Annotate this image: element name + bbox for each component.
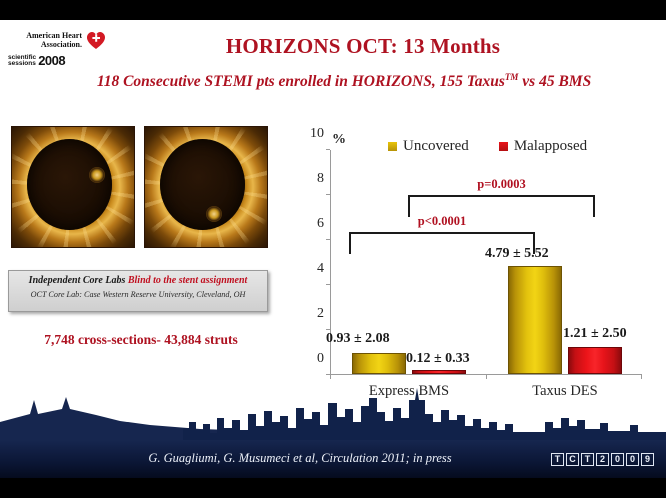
- tct-logo-char-2: T: [581, 453, 594, 466]
- slide-canvas: American Heart Association. scientific s…: [0, 20, 666, 478]
- tct-2009-logo: T C T 2 0 0 9: [551, 453, 654, 466]
- core-lab-black-text: Independent Core Labs: [29, 275, 128, 286]
- subtitle-post: vs 45 BMS: [518, 73, 591, 90]
- bar-express-bms-malapposed: [412, 370, 466, 374]
- p-value-malapposed: p=0.0003: [477, 177, 525, 192]
- y-tick-label-6: 6: [317, 216, 324, 232]
- y-axis-label: %: [332, 132, 346, 148]
- vessel-lumen: [27, 139, 112, 230]
- subtitle-pre: 118 Consecutive STEMI pts enrolled in HO…: [97, 73, 505, 90]
- tct-logo-char-6: 9: [641, 453, 654, 466]
- trademark-symbol: TM: [505, 72, 519, 82]
- value-label-express-bms-malapposed: 0.12 ± 0.33: [406, 351, 470, 367]
- y-tick-label-8: 8: [317, 171, 324, 187]
- y-tick-2: [326, 329, 330, 330]
- page-title: HORIZONS OCT: 13 Months: [0, 34, 666, 59]
- bracket-top-rule: [408, 195, 595, 197]
- y-tick-label-10: 10: [310, 126, 324, 142]
- y-tick-label-4: 4: [317, 261, 324, 277]
- bar-taxus-des-malapposed: [568, 347, 622, 374]
- sessions-small-2: sessions: [8, 61, 36, 67]
- tct-logo-char-3: 2: [596, 453, 609, 466]
- bar-taxus-des-uncovered: [508, 266, 562, 374]
- y-tick-4: [326, 284, 330, 285]
- tct-logo-char-5: 0: [626, 453, 639, 466]
- cross-sections-struts-text: 7,748 cross-sections- 43,884 struts: [10, 332, 272, 348]
- y-tick-label-2: 2: [317, 306, 324, 322]
- page-subtitle: 118 Consecutive STEMI pts enrolled in HO…: [0, 72, 666, 91]
- y-tick-label-0: 0: [317, 351, 324, 367]
- y-tick-8: [326, 194, 330, 195]
- core-lab-callout: Independent Core Labs Blind to the stent…: [8, 270, 268, 312]
- bracket-right-leg: [593, 195, 595, 217]
- vessel-lumen: [160, 139, 245, 230]
- bracket-left-leg: [408, 195, 410, 217]
- oct-image-left: [11, 126, 135, 248]
- value-label-express-bms-uncovered: 0.93 ± 2.08: [326, 331, 390, 347]
- plot-area: 0 2 4 6 8 10 0.93 ± 2.08 0.12 ± 0.33 4.7…: [330, 150, 642, 375]
- bracket-left-leg: [349, 232, 351, 254]
- oct-image-right: [144, 126, 268, 248]
- bar-chart: % Uncovered Malapposed: [296, 118, 656, 393]
- oct-cross-section-left: [11, 126, 135, 248]
- tct-logo-char-0: T: [551, 453, 564, 466]
- value-label-taxus-des-malapposed: 1.21 ± 2.50: [563, 326, 627, 342]
- y-tick-6: [326, 239, 330, 240]
- slide-root: American Heart Association. scientific s…: [0, 0, 666, 498]
- oct-cross-section-right: [144, 126, 268, 248]
- bar-express-bms-uncovered: [352, 353, 406, 374]
- y-tick-10: [326, 149, 330, 150]
- tct-logo-char-4: 0: [611, 453, 624, 466]
- bracket-top-rule: [349, 232, 535, 234]
- tct-logo-char-1: C: [566, 453, 579, 466]
- significance-bracket-uncovered: p<0.0001: [349, 232, 535, 254]
- core-lab-line-1: Independent Core Labs Blind to the stent…: [14, 275, 262, 286]
- significance-bracket-malapposed: p=0.0003: [408, 195, 595, 217]
- bracket-right-leg: [533, 232, 535, 254]
- core-lab-line-2: OCT Core Lab: Case Western Reserve Unive…: [14, 290, 262, 299]
- imaging-catheter: [89, 167, 105, 183]
- core-lab-red-text: Blind to the stent assignment: [128, 275, 247, 286]
- letterbox-bottom: [0, 478, 666, 498]
